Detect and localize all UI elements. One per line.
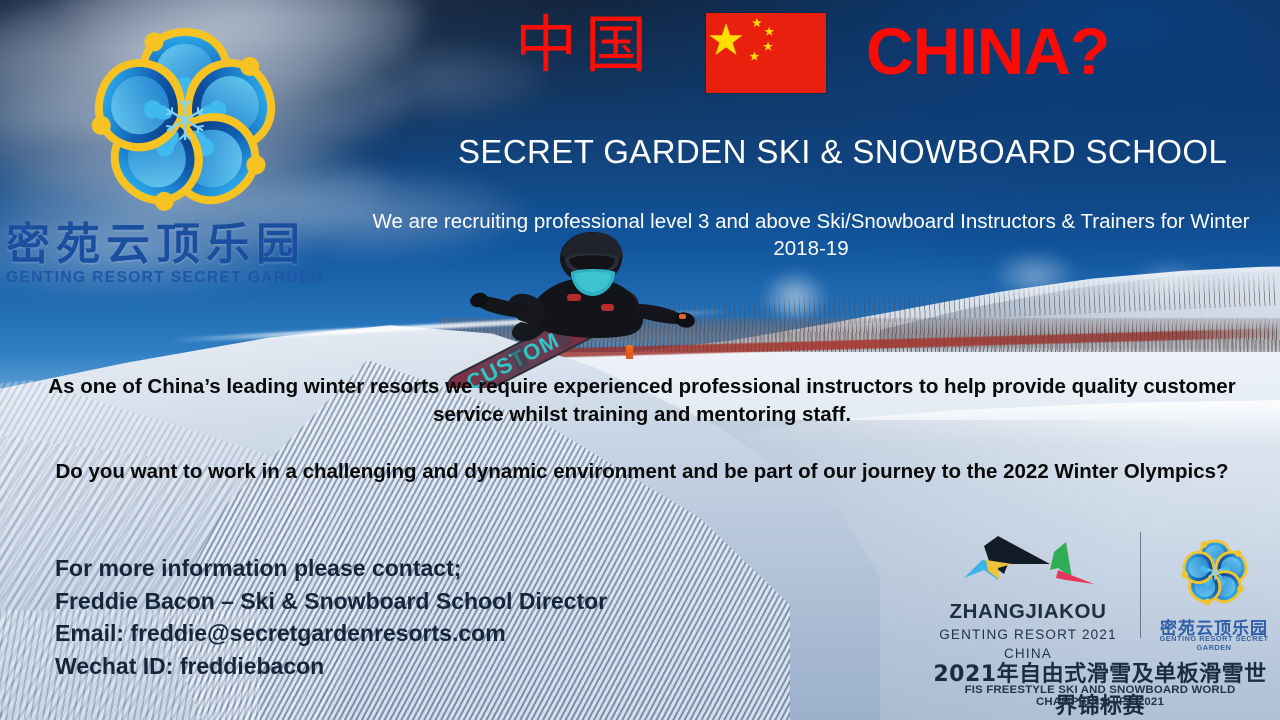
body-paragraph-2: Do you want to work in a challenging and… xyxy=(36,458,1248,486)
poster-content: 密苑云顶乐园 GENTING RESORT SECRET GARDEN 中国 C… xyxy=(0,0,1280,720)
china-flag-icon xyxy=(706,13,826,93)
recruitment-text: We are recruiting professional level 3 a… xyxy=(370,208,1252,262)
secret-garden-flower-logo-icon xyxy=(1170,530,1260,614)
badge-divider xyxy=(1140,532,1141,638)
header-chinese-title: 中国 xyxy=(515,14,655,76)
contact-block: For more information please contact; Fre… xyxy=(55,552,695,683)
brand-chinese-name: 密苑云顶乐园 xyxy=(6,222,352,268)
zhangjiakou-name: ZHANGJIAKOU xyxy=(928,600,1128,624)
event-title-english: FIS FREESTYLE SKI AND SNOWBOARD WORLD CH… xyxy=(928,684,1272,708)
poster-canvas: CUSTOM X xyxy=(0,0,1280,720)
header-english-title: CHINA? xyxy=(866,18,1109,84)
secret-garden-flower-logo xyxy=(60,2,310,234)
zhangjiakou-abstract-mark-icon xyxy=(946,534,1116,596)
school-title: SECRET GARDEN SKI & SNOWBOARD SCHOOL xyxy=(458,133,1178,171)
brand-logo-wordmark: 密苑云顶乐园 GENTING RESORT SECRET GARDEN xyxy=(6,222,352,287)
contact-email[interactable]: Email: freddie@secretgardenresorts.com xyxy=(55,617,695,650)
contact-name-role: Freddie Bacon – Ski & Snowboard School D… xyxy=(55,585,695,618)
championship-badge: ZHANGJIAKOU GENTING RESORT 2021 CHINA xyxy=(928,528,1272,706)
contact-heading: For more information please contact; xyxy=(55,552,695,585)
contact-wechat: Wechat ID: freddiebacon xyxy=(55,650,695,683)
brand-english-name: GENTING RESORT SECRET GARDEN xyxy=(6,269,352,287)
zhangjiakou-line1: GENTING RESORT 2021 xyxy=(928,626,1128,645)
secret-garden-english-name: GENTING RESORT SECRET GARDEN xyxy=(1152,634,1276,652)
body-paragraph-1: As one of China’s leading winter resorts… xyxy=(36,373,1248,428)
